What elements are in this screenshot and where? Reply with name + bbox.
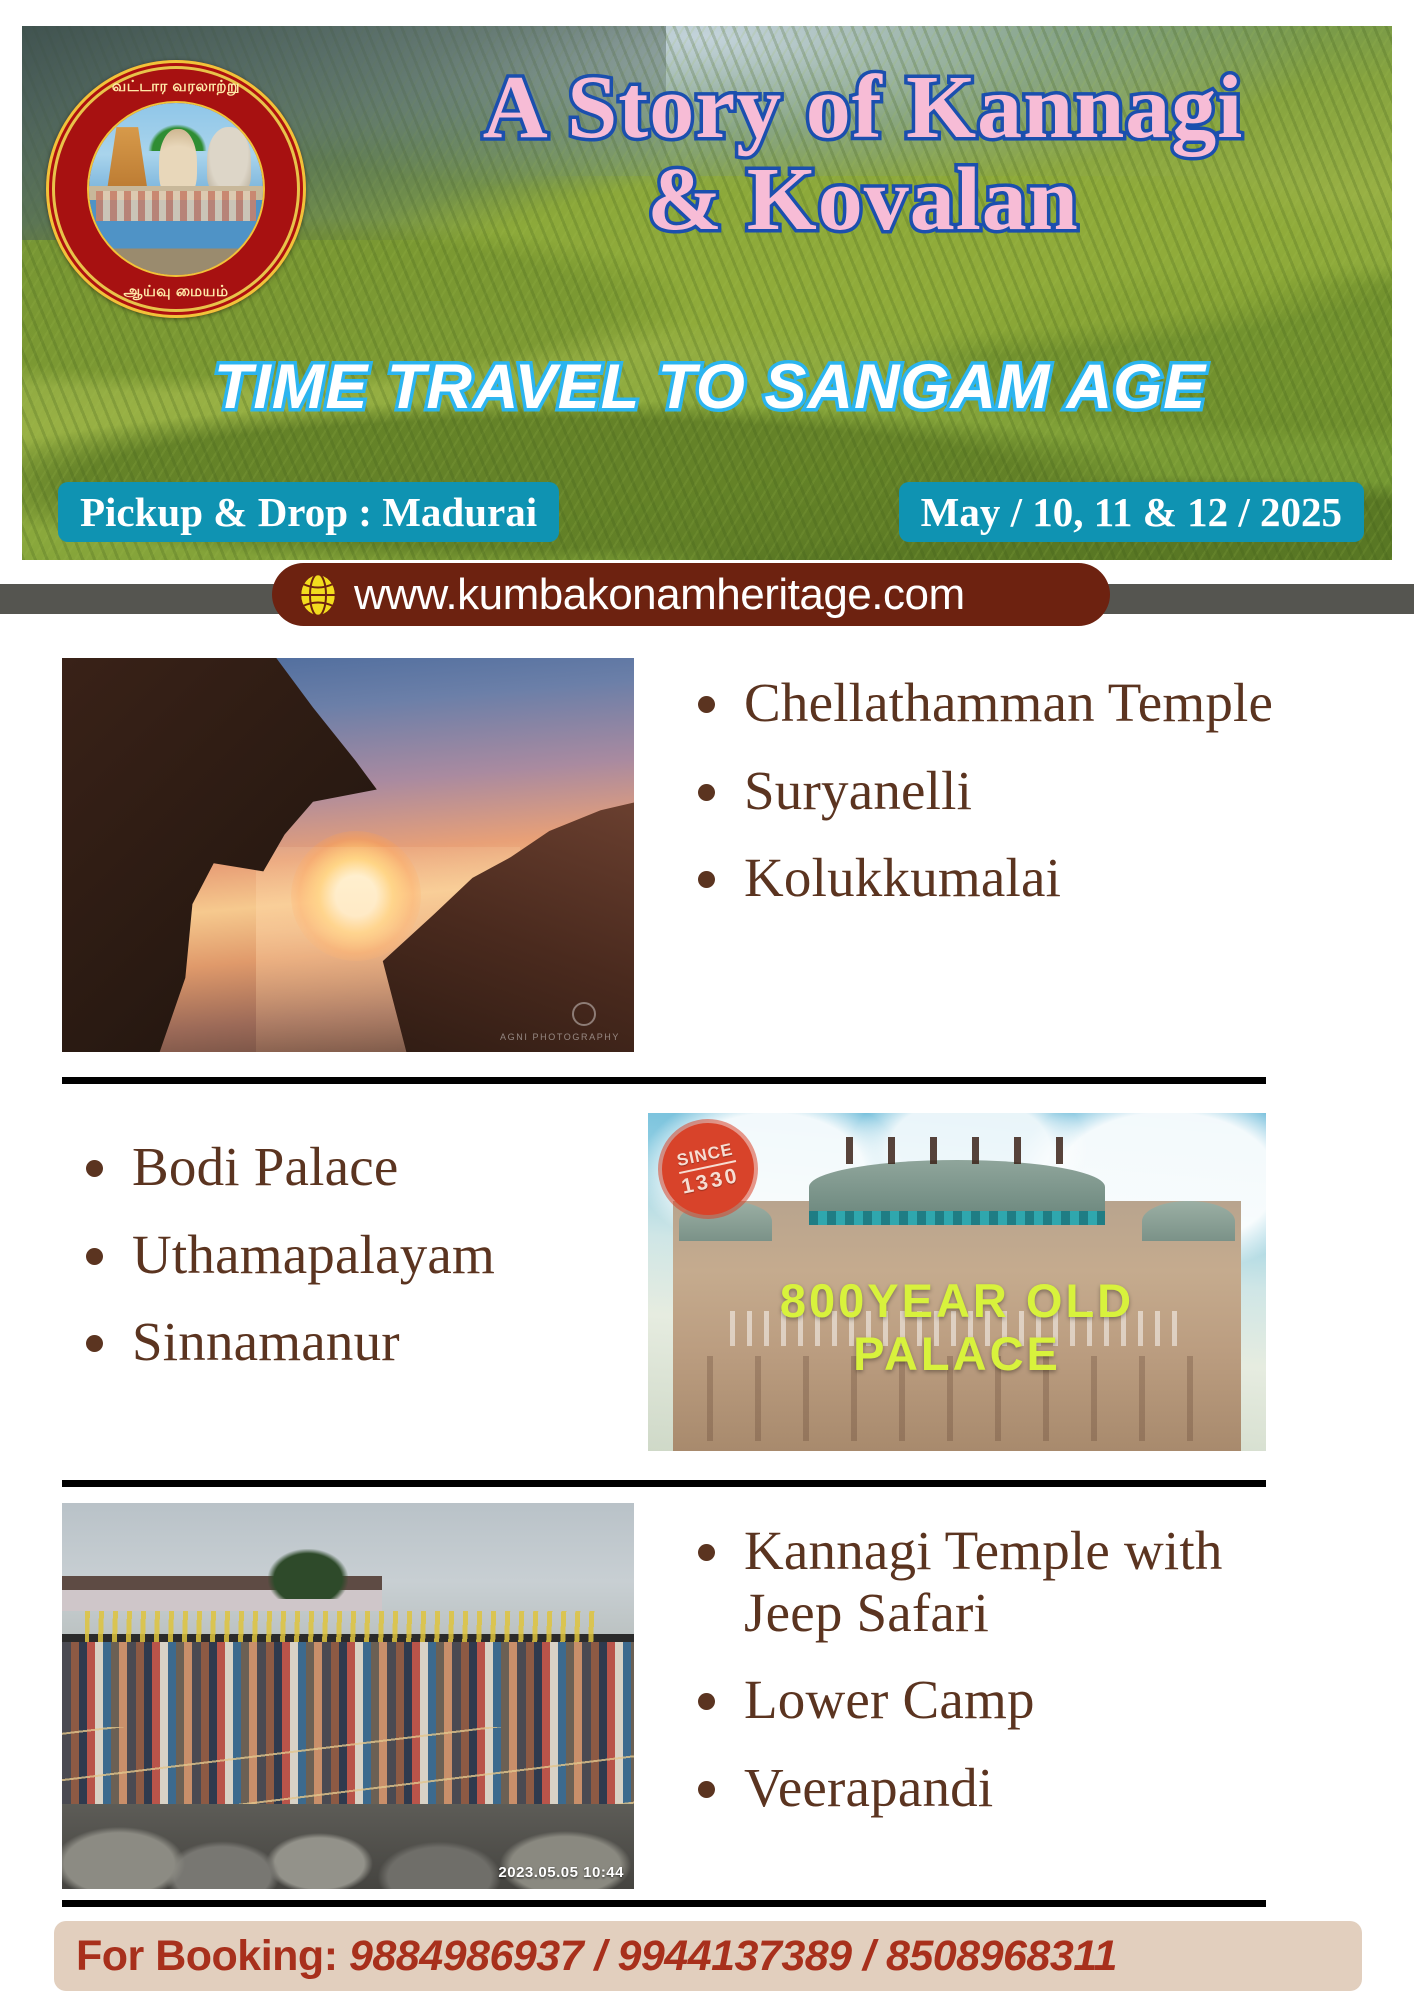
booking-footer: For Booking: 9884986937 / 9944137389 / 8… <box>54 1921 1362 1991</box>
section-2-photo: SINCE 1330 800YEAR OLD PALACE <box>648 1113 1266 1451</box>
page-title-line2: & Kovalan <box>352 154 1374 246</box>
page-title: A Story of Kannagi & Kovalan <box>352 62 1374 246</box>
booking-text: For Booking: 9884986937 / 9944137389 / 8… <box>76 1932 1117 1981</box>
section-1-list: Chellathamman Temple Suryanelli Kolukkum… <box>690 672 1290 935</box>
travel-date-badge: May / 10, 11 & 12 / 2025 <box>899 482 1364 542</box>
list-item: Chellathamman Temple <box>690 672 1290 734</box>
palace-roof-finials <box>846 1137 1081 1164</box>
palace-overlay-line2: PALACE <box>648 1328 1266 1381</box>
logo-tamil-top-text: வட்டார வரலாற்று <box>55 78 297 97</box>
palace-overlay-line1: 800YEAR OLD <box>648 1275 1266 1328</box>
palace-central-dome <box>809 1160 1106 1214</box>
booking-label: For Booking: <box>76 1932 349 1980</box>
list-item: Kolukkumalai <box>690 847 1290 909</box>
photo-timestamp: 2023.05.05 10:44 <box>498 1864 624 1881</box>
page-title-line1: A Story of Kannagi <box>352 62 1374 154</box>
list-item: Suryanelli <box>690 760 1290 822</box>
website-url-text: www.kumbakonamheritage.com <box>354 570 965 620</box>
list-item: Sinnamanur <box>78 1311 658 1373</box>
booking-numbers[interactable]: 9884986937 / 9944137389 / 8508968311 <box>349 1932 1117 1980</box>
photographer-mark-icon <box>572 1002 596 1026</box>
list-item: Kannagi Temple with Jeep Safari <box>690 1520 1300 1643</box>
section-divider <box>62 1480 1266 1487</box>
palace-tile-band <box>809 1211 1106 1225</box>
list-item: Bodi Palace <box>78 1136 658 1198</box>
page-subtitle: TIME TRAVEL TO SANGAM AGE <box>52 356 1368 419</box>
logo-emblem-artwork <box>89 103 263 275</box>
section-3-photo: 2023.05.05 10:44 <box>62 1503 634 1889</box>
palace-dome-right <box>1142 1201 1235 1242</box>
logo-tamil-bottom-text: ஆய்வு மையம் <box>55 283 297 302</box>
list-item: Veerapandi <box>690 1757 1300 1819</box>
palace-overlay-text: 800YEAR OLD PALACE <box>648 1275 1266 1380</box>
section-1-photo: AGNI PHOTOGRAPHY <box>62 658 634 1052</box>
website-url-pill[interactable]: www.kumbakonamheritage.com <box>272 563 1110 626</box>
section-2-list: Bodi Palace Uthamapalayam Sinnamanur <box>78 1136 658 1399</box>
logo-outer-ring: வட்டார வரலாற்று ஆய்வு மையம் <box>52 66 300 312</box>
list-item: Uthamapalayam <box>78 1224 658 1286</box>
section-3-list: Kannagi Temple with Jeep Safari Lower Ca… <box>690 1520 1300 1844</box>
festival-tree <box>268 1549 348 1599</box>
photo-watermark: AGNI PHOTOGRAPHY <box>500 1032 620 1042</box>
list-item: Lower Camp <box>690 1669 1300 1731</box>
hero-banner: வட்டார வரலாற்று ஆய்வு மையம் A Story of K… <box>22 26 1392 560</box>
pickup-drop-badge: Pickup & Drop : Madurai <box>58 482 559 542</box>
globe-icon <box>296 571 340 619</box>
section-divider <box>62 1900 1266 1907</box>
section-divider <box>62 1077 1266 1084</box>
organisation-logo: வட்டார வரலாற்று ஆய்வு மையம் <box>46 60 306 318</box>
temple-tank-icon <box>89 186 263 275</box>
